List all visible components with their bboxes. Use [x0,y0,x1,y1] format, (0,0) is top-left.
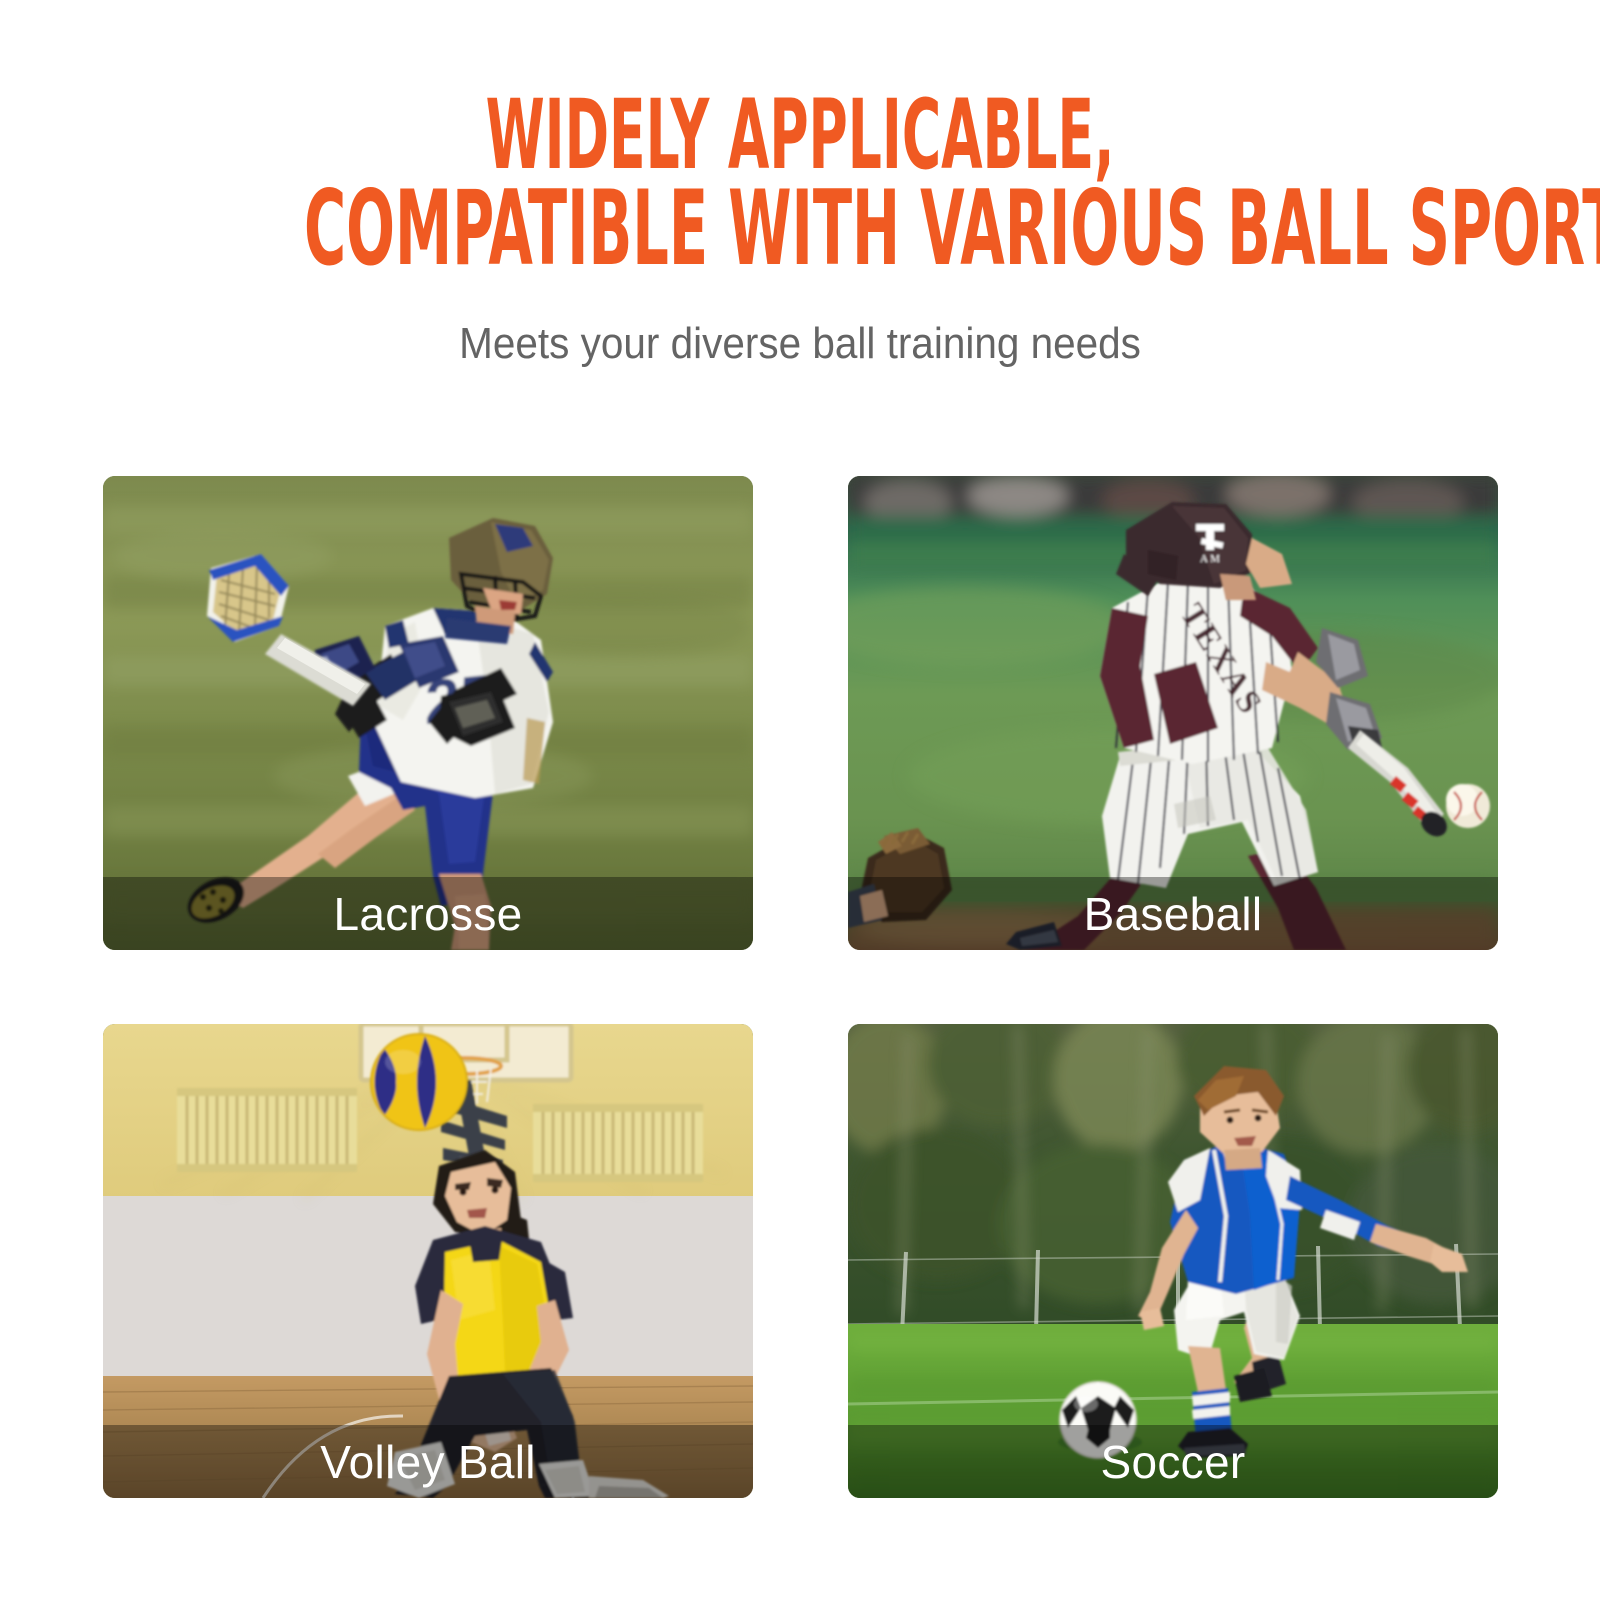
svg-text:A M: A M [1200,553,1220,565]
promo-page: WIDELY APPLICABLE, COMPATIBLE WITH VARIO… [0,0,1600,1600]
sport-card-baseball[interactable]: TEXAS [848,476,1498,950]
baseball-photo: TEXAS [848,476,1498,950]
soccer-photo [848,1024,1498,1498]
volleyball-photo [103,1024,753,1498]
sport-card-lacrosse[interactable]: 25 [103,476,753,950]
headline-line-2: COMPATIBLE WITH VARIOUS BALL SPORTS [304,182,1296,276]
page-title: WIDELY APPLICABLE, COMPATIBLE WITH VARIO… [304,88,1296,276]
lacrosse-photo: 25 [103,476,753,950]
sport-card-soccer[interactable]: Soccer [848,1024,1498,1498]
sport-card-volleyball[interactable]: Volley Ball [103,1024,753,1498]
sports-gallery-grid: 25 [103,476,1498,1498]
page-subtitle: Meets your diverse ball training needs [64,318,1536,370]
headline-line-1: WIDELY APPLICABLE, [304,88,1296,182]
